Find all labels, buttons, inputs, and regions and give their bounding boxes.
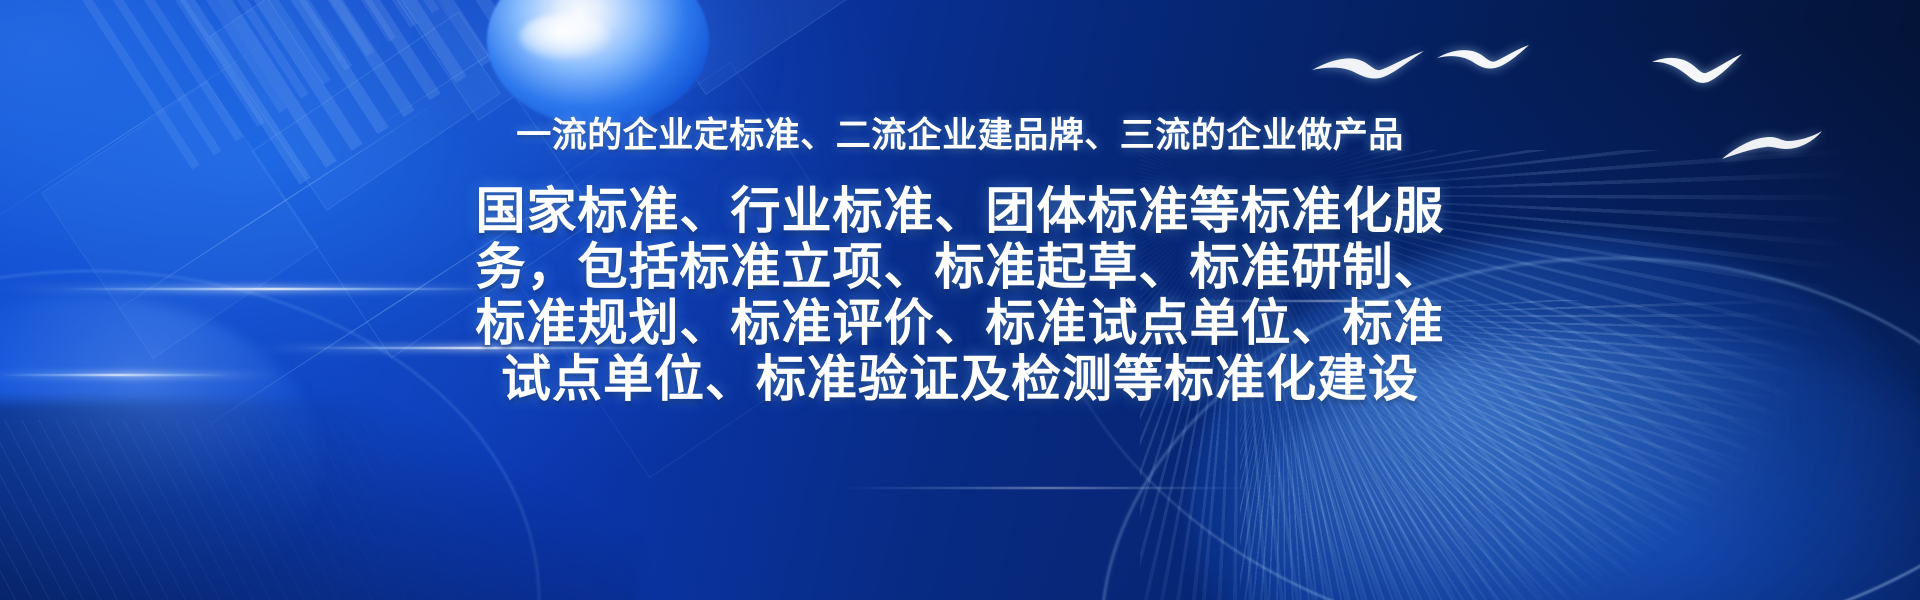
headline-line-4: 试点单位、标准验证及检测等标准化建设 xyxy=(445,351,1475,407)
banner-headline: 国家标准、行业标准、团体标准等标准化服 务，包括标准立项、标准起草、标准研制、 … xyxy=(445,183,1475,407)
banner-content: 一流的企业定标准、二流企业建品牌、三流的企业做产品 国家标准、行业标准、团体标准… xyxy=(0,0,1920,600)
headline-line-1: 国家标准、行业标准、团体标准等标准化服 xyxy=(445,183,1475,239)
headline-line-2: 务，包括标准立项、标准起草、标准研制、 xyxy=(445,239,1475,295)
banner-tagline: 一流的企业定标准、二流企业建品牌、三流的企业做产品 xyxy=(516,118,1404,153)
headline-line-3: 标准规划、标准评价、标准试点单位、标准 xyxy=(445,295,1475,351)
hero-banner: 一流的企业定标准、二流企业建品牌、三流的企业做产品 国家标准、行业标准、团体标准… xyxy=(0,0,1920,600)
